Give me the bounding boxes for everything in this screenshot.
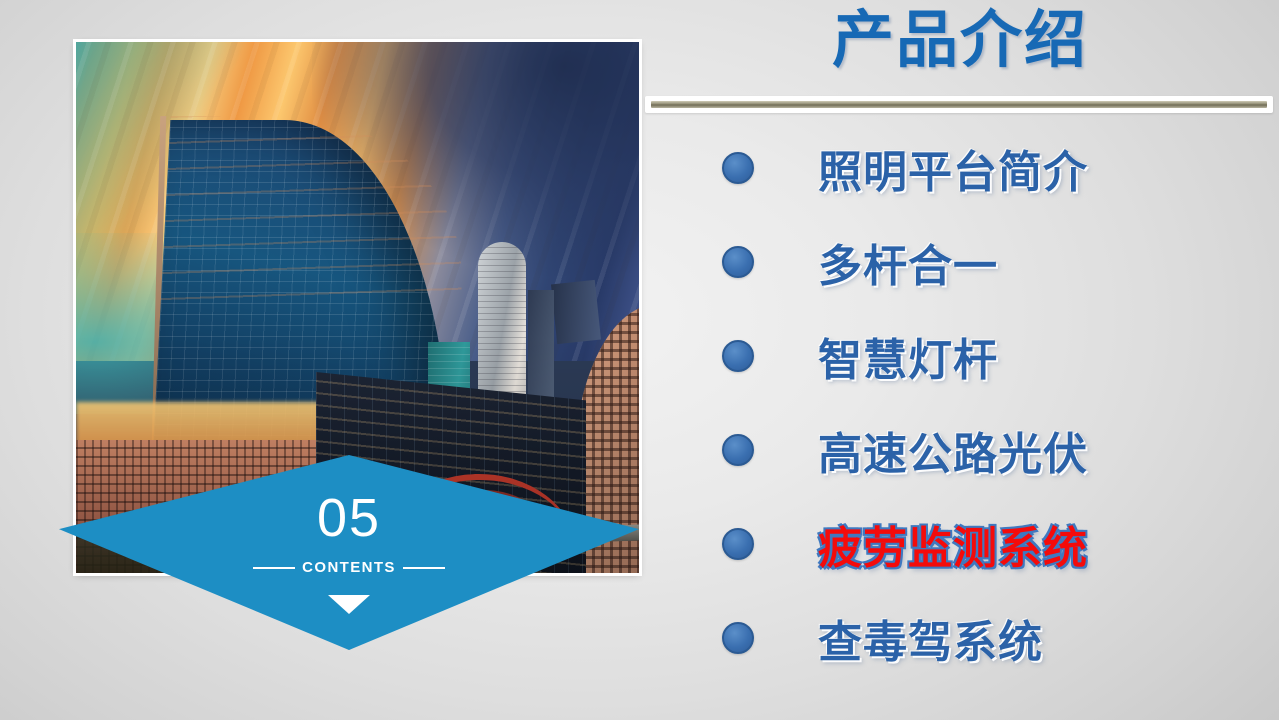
list-item-label: 多杆合一 (818, 230, 998, 294)
list-item[interactable]: 照明平台简介 (650, 136, 1270, 200)
bullet-dot-icon (722, 152, 754, 184)
title-divider-inner (651, 101, 1267, 108)
rule-left-icon (253, 567, 295, 569)
list-item[interactable]: 查毒驾系统 (650, 606, 1270, 670)
title-divider (645, 96, 1273, 113)
down-triangle-icon (328, 595, 370, 614)
presentation-slide: 05 CONTENTS 产品介绍 照明平台简介 多杆合一 智慧灯杆 高速公路光伏 (0, 0, 1279, 720)
page-title: 产品介绍 (650, 8, 1270, 73)
bullet-dot-icon (722, 528, 754, 560)
bullet-dot-icon (722, 434, 754, 466)
list-item-label: 查毒驾系统 (818, 606, 1043, 670)
list-item-highlighted[interactable]: 疲劳监测系统 (650, 512, 1270, 576)
bullet-dot-icon (722, 622, 754, 654)
list-item[interactable]: 智慧灯杆 (650, 324, 1270, 388)
rule-right-icon (403, 567, 445, 569)
list-item[interactable]: 多杆合一 (650, 230, 1270, 294)
list-item[interactable]: 高速公路光伏 (650, 418, 1270, 482)
bullet-dot-icon (722, 340, 754, 372)
list-item-label: 疲劳监测系统 (818, 512, 1088, 576)
list-item-label: 照明平台简介 (818, 136, 1088, 200)
bullet-dot-icon (722, 246, 754, 278)
list-item-label: 智慧灯杆 (818, 324, 998, 388)
contents-label: CONTENTS (302, 559, 396, 576)
list-item-label: 高速公路光伏 (818, 418, 1088, 482)
